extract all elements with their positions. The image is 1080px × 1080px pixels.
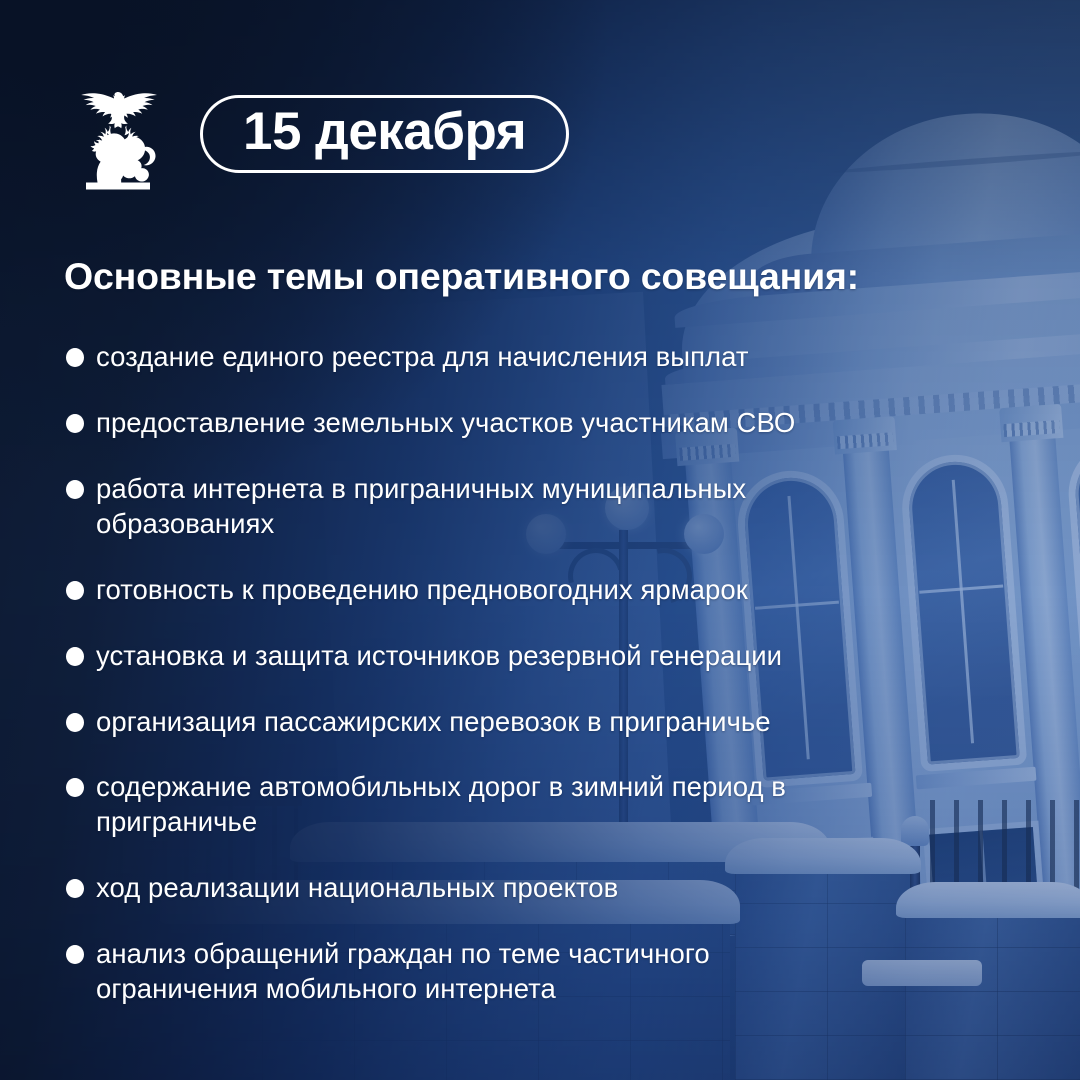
bullet-dot-icon — [66, 581, 84, 600]
list-item-label: анализ обращений граждан по теме частичн… — [96, 938, 710, 1004]
belgorod-coat-of-arms-icon — [64, 78, 172, 190]
page-title: Основные темы оперативного совещания: — [64, 255, 859, 298]
list-item-label: готовность к проведению предновогодних я… — [96, 574, 748, 605]
list-item: организация пассажирских перевозок в при… — [64, 705, 854, 740]
list-item: создание единого реестра для начисления … — [64, 340, 854, 375]
list-item-label: предоставление земельных участков участн… — [96, 407, 795, 438]
date-badge-label: 15 декабря — [243, 105, 526, 158]
poster-canvas: 15 декабря Основные темы оперативного со… — [0, 0, 1080, 1080]
poster-header: 15 декабря — [64, 78, 569, 190]
bullet-dot-icon — [66, 945, 84, 964]
bullet-dot-icon — [66, 647, 84, 666]
bullet-dot-icon — [66, 480, 84, 499]
bullet-dot-icon — [66, 414, 84, 433]
list-item: ход реализации национальных проектов — [64, 871, 854, 906]
bullet-dot-icon — [66, 348, 84, 367]
list-item-label: создание единого реестра для начисления … — [96, 341, 749, 372]
list-item-label: ход реализации национальных проектов — [96, 872, 618, 903]
bullet-dot-icon — [66, 778, 84, 797]
list-item-label: работа интернета в приграничных муниципа… — [96, 473, 746, 539]
poster-content: 15 декабря Основные темы оперативного со… — [0, 0, 1080, 1080]
list-item: предоставление земельных участков участн… — [64, 406, 854, 441]
list-item-label: установка и защита источников резервной … — [96, 640, 782, 671]
list-item: работа интернета в приграничных муниципа… — [64, 472, 854, 542]
list-item-label: содержание автомобильных дорог в зимний … — [96, 771, 786, 837]
list-item: содержание автомобильных дорог в зимний … — [64, 770, 854, 840]
list-item: установка и защита источников резервной … — [64, 639, 854, 674]
date-badge: 15 декабря — [200, 95, 569, 173]
bullet-dot-icon — [66, 879, 84, 898]
list-item: анализ обращений граждан по теме частичн… — [64, 937, 854, 1007]
bullet-dot-icon — [66, 713, 84, 732]
list-item: готовность к проведению предновогодних я… — [64, 573, 854, 608]
topics-list: создание единого реестра для начисления … — [64, 340, 854, 1007]
list-item-label: организация пассажирских перевозок в при… — [96, 706, 771, 737]
